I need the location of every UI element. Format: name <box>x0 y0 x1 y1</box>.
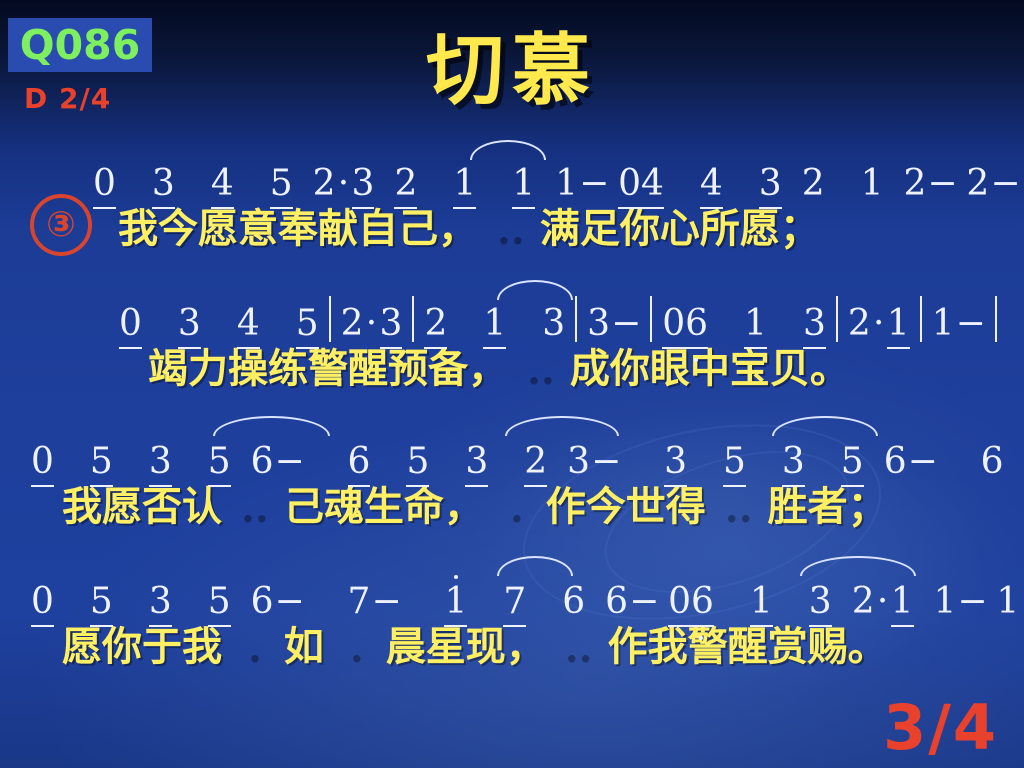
note: 3 <box>351 166 376 202</box>
note: 6 <box>561 584 586 620</box>
note: 2 <box>312 166 337 202</box>
note-gap: . <box>143 306 177 342</box>
lyrics-gap: . <box>498 480 532 534</box>
dot-separator: · <box>876 584 890 620</box>
notation-row-3: 0 . 5 . 3 . 5 6 − . 6 . 5 . 3 . 2 3 − . … <box>0 426 1024 480</box>
note: 2 <box>340 306 365 342</box>
lyrics-segment: 愿你于我 <box>62 624 222 670</box>
note-low-octave: 06 <box>667 584 715 620</box>
notation-row-4: 0 . 5 . 3 . 5 6 − . 7 − . 1 . 7 . 6 6 − … <box>0 566 1024 620</box>
note-gap: . <box>527 584 561 620</box>
lyrics-segment: 我愿否认 <box>62 484 222 530</box>
score-line-2: 0 . 3 . 4 . 5 2 · 3 2 . 1 . 3 3 − 06 . 1… <box>0 288 1024 400</box>
lyrics-segment: 己魂生命， <box>284 484 484 530</box>
note: 2 <box>903 166 928 202</box>
barline <box>412 296 414 342</box>
note-gap: . <box>418 166 452 202</box>
note-gap: . <box>114 444 148 480</box>
note: 2 <box>393 166 418 202</box>
lyrics-gap: .. <box>492 202 526 256</box>
note: 6 <box>250 584 275 620</box>
note: 4 <box>210 166 235 202</box>
note-gap: . <box>715 584 749 620</box>
note: 3 <box>808 584 833 620</box>
note-high-octave: 1 <box>443 584 468 620</box>
note: 5 <box>722 444 747 480</box>
note-gap: . <box>665 166 699 202</box>
note: 1 <box>452 166 477 202</box>
lyrics-segment: 晨星现， <box>386 624 546 670</box>
note: 4 <box>699 166 724 202</box>
note: 06 <box>661 306 709 342</box>
note-gap: . <box>391 584 425 620</box>
note-gap: . <box>724 166 758 202</box>
note-gap: . <box>295 444 329 480</box>
lyrics-row-3: 我愿否认 .. 己魂生命， . 作今世得 .. 胜者； <box>0 480 1024 538</box>
notation-row-1: 0 . 3 . 4 . 5 2 · 3 2 . 1 . 1 1 − 04 . 4… <box>0 148 1024 202</box>
note: 3 <box>464 444 489 480</box>
note-gap: . <box>806 444 840 480</box>
note-gap: . <box>507 306 541 342</box>
note: 2 <box>847 306 872 342</box>
score-line-1: 0 . 3 . 4 . 5 2 · 3 2 . 1 . 1 1 − 04 . 4… <box>0 148 1024 260</box>
page-title: 切慕 <box>0 8 1024 120</box>
note: 1 <box>931 306 956 342</box>
note: 6 <box>883 444 908 480</box>
note-gap: . <box>468 584 502 620</box>
note: 6 <box>250 444 275 480</box>
note-gap: . <box>826 166 860 202</box>
lyrics-segment: 如 <box>284 624 324 670</box>
note-extender: − <box>990 166 1010 202</box>
lyrics-gap: .. <box>236 480 270 534</box>
note-gap: . <box>928 444 962 480</box>
note: 5 <box>89 444 114 480</box>
note: 3 <box>566 444 591 480</box>
note-gap: . <box>709 306 743 342</box>
note: 3 <box>586 306 611 342</box>
note: 04 <box>617 166 665 202</box>
dot-separator: · <box>337 166 351 202</box>
note-gap: . <box>1020 584 1024 620</box>
dot-separator: · <box>872 306 886 342</box>
note: 1 <box>886 306 911 342</box>
notation-row-2: 0 . 3 . 4 . 5 2 · 3 2 . 1 . 3 3 − 06 . 1… <box>0 288 1024 342</box>
dot-separator: · <box>365 306 379 342</box>
note: 3 <box>379 306 404 342</box>
note: 3 <box>758 166 783 202</box>
note-gap: . <box>295 584 329 620</box>
lyrics-row-1: 我今愿意奉献自己， .. 满足你心所愿； <box>0 202 1024 260</box>
note: 1 <box>890 584 915 620</box>
note-extender: − <box>275 444 295 480</box>
note: 1 <box>933 584 958 620</box>
note-extender: − <box>927 166 947 202</box>
barline <box>575 296 577 342</box>
lyrics-segment: 作我警醒赏赐。 <box>608 624 888 670</box>
note: 1 <box>511 166 536 202</box>
note: 3 <box>177 306 202 342</box>
barline <box>995 296 997 342</box>
lyrics-gap: .. <box>720 480 754 534</box>
note-gap: . <box>448 306 482 342</box>
note: 6 <box>980 444 1005 480</box>
note-gap: . <box>1005 444 1024 480</box>
slide-canvas: Q086 D 2/4 切慕 3/4 ③ 0 . 3 . 4 . 5 2 · 3 … <box>0 0 1024 768</box>
note-gap: . <box>176 166 210 202</box>
note: 1 <box>482 306 507 342</box>
note: 3 <box>151 166 176 202</box>
note: 0 <box>30 584 55 620</box>
barline <box>329 296 331 342</box>
note: 5 <box>89 584 114 620</box>
note-extender: − <box>371 584 391 620</box>
note-gap: . <box>371 444 405 480</box>
note: 3 <box>541 306 566 342</box>
note: 5 <box>295 306 320 342</box>
note-gap: . <box>202 306 236 342</box>
lyrics-gap: . <box>236 620 270 674</box>
note: 0 <box>92 166 117 202</box>
note-gap: . <box>117 166 151 202</box>
note: 1 <box>749 584 774 620</box>
note-gap: . <box>55 444 89 480</box>
note: 5 <box>840 444 865 480</box>
note-gap: . <box>55 584 89 620</box>
lyrics-segment: 成你眼中宝贝。 <box>570 346 850 392</box>
note: 0 <box>30 444 55 480</box>
note: 5 <box>207 444 232 480</box>
note: 3 <box>802 306 827 342</box>
note: 6 <box>604 584 629 620</box>
note-gap: . <box>611 444 645 480</box>
note: 5 <box>269 166 294 202</box>
note-extender: − <box>908 444 928 480</box>
lyrics-segment: 胜者； <box>768 484 888 530</box>
note: 5 <box>405 444 430 480</box>
note-gap: . <box>768 306 802 342</box>
lyrics-segment: 竭力操练警醒预备， <box>148 346 508 392</box>
note: 3 <box>148 444 173 480</box>
note: 1 <box>743 306 768 342</box>
note-extender: − <box>611 306 641 342</box>
note-extender: − <box>957 584 977 620</box>
note: 1 <box>554 166 579 202</box>
lyrics-row-4: 愿你于我 . 如 . 晨星现， .. 作我警醒赏赐。 <box>0 620 1024 678</box>
score-line-3: 0 . 5 . 3 . 5 6 − . 6 . 5 . 3 . 2 3 − . … <box>0 426 1024 538</box>
note: 3 <box>148 584 173 620</box>
note-gap: . <box>173 584 207 620</box>
note-gap: . <box>688 444 722 480</box>
note-extender: − <box>956 306 986 342</box>
note: 2 <box>851 584 876 620</box>
barline <box>920 296 922 342</box>
lyrics-segment: 作今世得 <box>546 484 706 530</box>
barline <box>836 296 838 342</box>
note: 2 <box>801 166 826 202</box>
note: 3 <box>663 444 688 480</box>
lyrics-gap: . <box>338 620 372 674</box>
note: 2 <box>423 306 448 342</box>
lyrics-segment: 满足你心所愿； <box>540 206 820 252</box>
note: 5 <box>207 584 232 620</box>
note: 1 <box>860 166 885 202</box>
note: 4 <box>236 306 261 342</box>
lyrics-gap: .. <box>560 620 594 674</box>
note-gap: . <box>235 166 269 202</box>
note-gap: . <box>173 444 207 480</box>
note: 2 <box>523 444 548 480</box>
note: 6 <box>347 444 372 480</box>
note-gap: . <box>114 584 148 620</box>
note-gap: . <box>489 444 523 480</box>
note-extender: − <box>579 166 599 202</box>
note: 3 <box>781 444 806 480</box>
lyrics-row-2: 竭力操练警醒预备， .. 成你眼中宝贝。 <box>0 342 1024 400</box>
note: 0 <box>118 306 143 342</box>
barline <box>650 296 652 342</box>
page-number: 3/4 <box>883 691 998 764</box>
note-gap: . <box>747 444 781 480</box>
note-gap: . <box>774 584 808 620</box>
lyrics-gap: .. <box>522 342 556 396</box>
note: 2 <box>965 166 990 202</box>
note: 1 <box>995 584 1020 620</box>
note-extender: − <box>275 584 295 620</box>
note-gap: . <box>477 166 511 202</box>
lyrics-segment: 我今愿意奉献自己， <box>118 206 478 252</box>
note-gap: . <box>261 306 295 342</box>
note-gap: . <box>430 444 464 480</box>
note-extender: − <box>629 584 649 620</box>
score-line-4: 0 . 5 . 3 . 5 6 − . 7 − . 1 . 7 . 6 6 − … <box>0 566 1024 678</box>
note: 7 <box>347 584 372 620</box>
note: 7 <box>502 584 527 620</box>
note-extender: − <box>591 444 611 480</box>
